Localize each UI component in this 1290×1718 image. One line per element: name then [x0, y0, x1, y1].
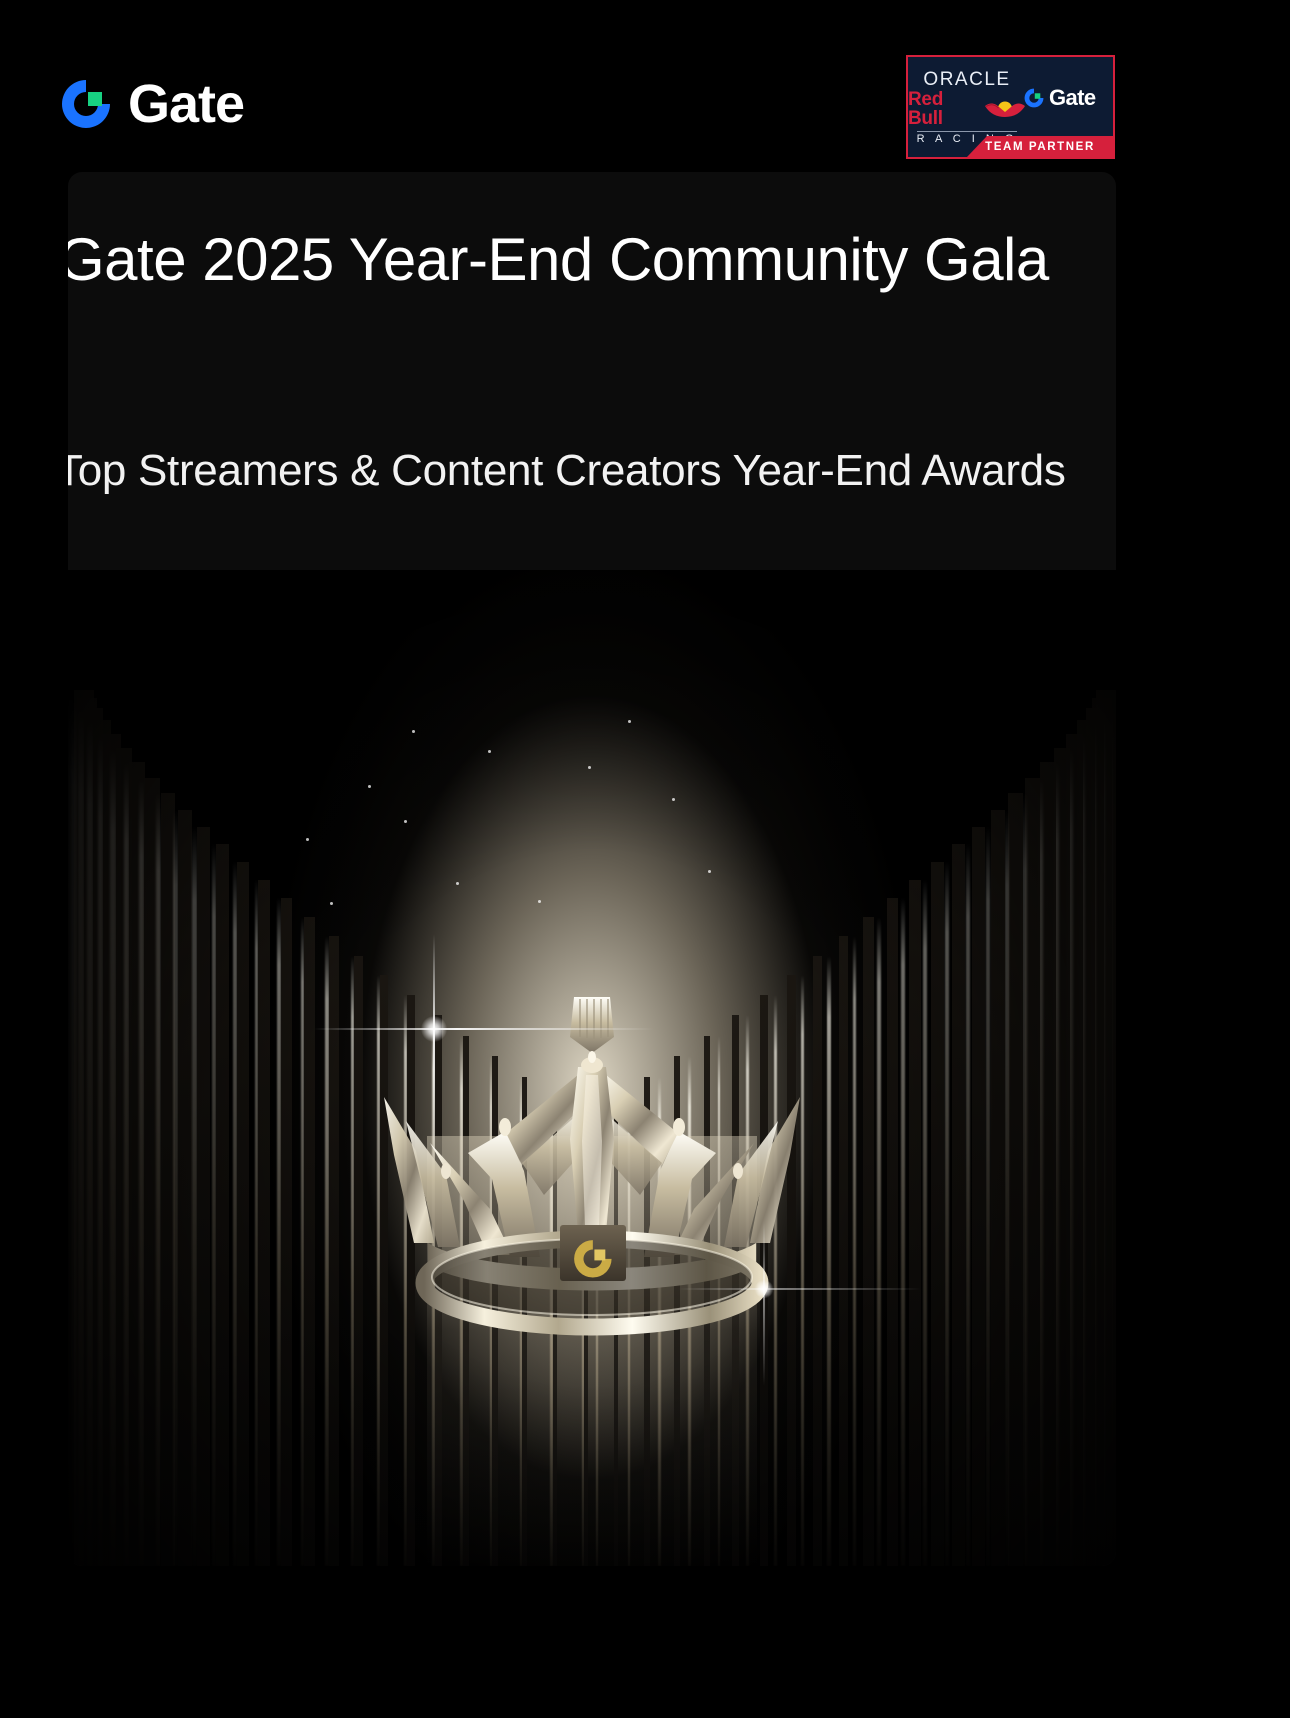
red-bull-lockup: Red Bull — [908, 90, 1026, 128]
team-partner-ribbon: TEAM PARTNER — [967, 136, 1113, 157]
announcement-card: Gate 2025 Year-End Community Gala Top St… — [68, 172, 1116, 1566]
dust-sparkle — [588, 766, 591, 769]
oracle-wordmark: ORACLE — [923, 70, 1010, 89]
gate-brand-word: Gate — [128, 77, 244, 131]
dust-sparkle — [538, 900, 541, 903]
dust-sparkle — [330, 902, 333, 905]
dust-sparkle — [708, 870, 711, 873]
gate-logo-icon — [58, 76, 114, 132]
gate-logo-icon — [1023, 87, 1045, 109]
dust-sparkle — [672, 798, 675, 801]
badge-gate-lockup: Gate — [1023, 77, 1109, 119]
page-root: Gate ORACLE Red Bull R A C I N G — [0, 0, 1290, 1718]
badge-divider — [917, 131, 1017, 132]
dust-sparkle — [306, 838, 309, 841]
dust-sparkle — [412, 730, 415, 733]
dust-sparkle — [456, 882, 459, 885]
dust-sparkle — [368, 785, 371, 788]
red-bull-wordmark: Red Bull — [908, 90, 981, 128]
oracle-red-bull-racing-team-partner-badge[interactable]: ORACLE Red Bull R A C I N G — [906, 55, 1115, 159]
page-subtitle: Top Streamers & Content Creators Year-En… — [68, 440, 1116, 502]
hero-image — [68, 570, 1116, 1566]
red-bull-icon — [984, 100, 1026, 118]
page-header: Gate ORACLE Red Bull R A C I N G — [0, 0, 1290, 172]
crystal-crown-trophy-icon — [372, 925, 812, 1345]
gate-brand-logo[interactable]: Gate — [58, 76, 244, 132]
badge-gate-word: Gate — [1049, 87, 1096, 109]
dust-sparkle — [488, 750, 491, 753]
page-title: Gate 2025 Year-End Community Gala — [68, 220, 1058, 299]
dust-sparkle — [628, 720, 631, 723]
dust-sparkle — [404, 820, 407, 823]
